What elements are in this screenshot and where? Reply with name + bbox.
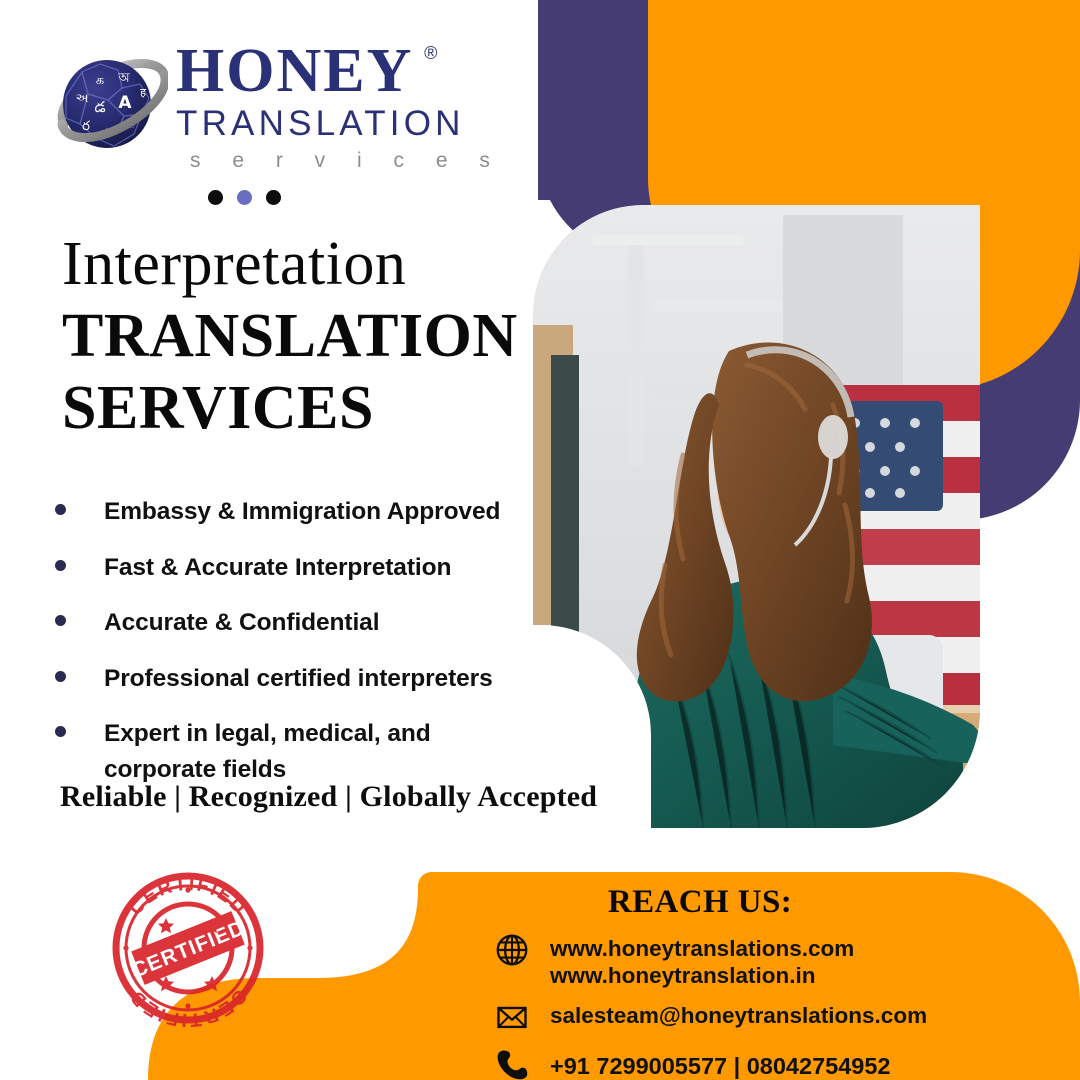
contact-rows: www.honeytranslations.com www.honeytrans…: [492, 930, 1072, 1080]
bullet-icon: [55, 726, 66, 737]
stamp-outer-text-top: CERTIFIED: [125, 874, 251, 920]
poster-canvas: க অ ह અ డ A ర ம ్ HONEY ® TRANSLATION s …: [0, 0, 1080, 1080]
headline-bold-line-2: SERVICES: [62, 375, 532, 441]
envelope-icon: [492, 997, 532, 1037]
feature-label: Expert in legal, medical, and corporate …: [104, 716, 464, 787]
website-line-2: www.honeytranslation.in: [550, 962, 854, 989]
globe-icon: [492, 930, 532, 970]
feature-item: Accurate & Confidential: [55, 605, 535, 641]
svg-text:ह: ह: [140, 86, 146, 99]
feature-label: Professional certified interpreters: [104, 661, 493, 697]
feature-item: Expert in legal, medical, and corporate …: [55, 716, 535, 787]
bullet-icon: [55, 671, 66, 682]
brand-name-tertiary: s e r v i c e s: [176, 147, 476, 174]
feature-label: Embassy & Immigration Approved: [104, 494, 500, 530]
headline-block: Interpretation TRANSLATION SERVICES: [62, 232, 532, 442]
contact-heading: REACH US:: [420, 884, 980, 921]
brand-wordmark: HONEY ® TRANSLATION s e r v i c e s: [176, 40, 476, 175]
certified-stamp-icon: CERTIFIED CERTIFIED CERTIFIED: [104, 868, 272, 1028]
svg-text:અ: અ: [76, 91, 89, 105]
headline-script-line: Interpretation: [62, 232, 532, 297]
registered-trademark-icon: ®: [424, 44, 439, 62]
svg-text:অ: অ: [117, 71, 130, 86]
interpreter-photo: [533, 205, 980, 828]
feature-item: Fast & Accurate Interpretation: [55, 550, 535, 586]
bullet-icon: [55, 560, 66, 571]
contact-phone: +91 7299005577 | 08042754952: [550, 1044, 891, 1080]
feature-label: Fast & Accurate Interpretation: [104, 550, 451, 586]
svg-text:డ: డ: [94, 98, 105, 116]
brand-name-primary: HONEY: [176, 37, 413, 105]
dot-three: [266, 190, 281, 205]
interpreter-photo-image: [533, 205, 980, 828]
feature-item: Embassy & Immigration Approved: [55, 494, 535, 530]
contact-email: salesteam@honeytranslations.com: [550, 997, 927, 1029]
brand-name-secondary: TRANSLATION: [176, 104, 476, 144]
contact-row-phone[interactable]: +91 7299005577 | 08042754952: [492, 1044, 1072, 1080]
bullet-icon: [55, 504, 66, 515]
feature-item: Professional certified interpreters: [55, 661, 535, 697]
svg-text:க: க: [96, 73, 104, 88]
dot-one: [208, 190, 223, 205]
contact-row-email[interactable]: salesteam@honeytranslations.com: [492, 997, 1072, 1037]
dot-two: [237, 190, 252, 205]
translation-globe-icon: க অ ह અ డ A ర ம ్: [52, 50, 168, 160]
logo-dot-row: [208, 190, 281, 205]
contact-row-website[interactable]: www.honeytranslations.com www.honeytrans…: [492, 930, 1072, 990]
phone-icon: [492, 1044, 532, 1080]
bullet-icon: [55, 615, 66, 626]
contact-panel: REACH US: www.honeytranslations.com www: [420, 872, 1080, 1080]
svg-text:ర: ర: [82, 119, 90, 134]
feature-label: Accurate & Confidential: [104, 605, 379, 641]
feature-list: Embassy & Immigration Approved Fast & Ac…: [55, 494, 535, 807]
contact-website-lines: www.honeytranslations.com www.honeytrans…: [550, 930, 854, 990]
svg-text:CERTIFIED: CERTIFIED: [125, 874, 251, 920]
website-line-1: www.honeytranslations.com: [550, 935, 854, 962]
svg-text:A: A: [118, 93, 132, 113]
headline-bold-line-1: TRANSLATION: [62, 303, 532, 369]
tagline: Reliable | Recognized | Globally Accepte…: [60, 780, 597, 814]
